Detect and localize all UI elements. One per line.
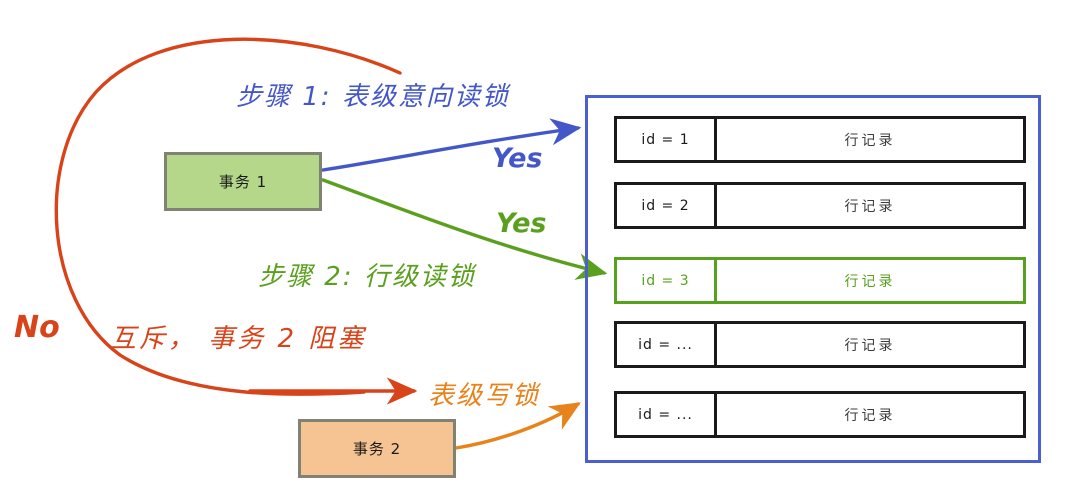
transaction-2-label: 事务 2 [353, 438, 401, 459]
row-id-cell: id = ... [617, 324, 717, 365]
row-record-cell: 行记录 [717, 324, 1023, 365]
transaction-2-box[interactable]: 事务 2 [298, 419, 456, 478]
table-row[interactable]: id = ... 行记录 [614, 391, 1026, 438]
annotation-conflict-blocked: 互斥， 事务 2 阻塞 [110, 318, 366, 355]
table-row-locked[interactable]: id = 3 行记录 [614, 257, 1026, 304]
row-record-cell: 行记录 [717, 185, 1023, 226]
transaction-1-box[interactable]: 事务 1 [164, 152, 322, 211]
row-id-cell: id = 2 [617, 185, 717, 226]
row-id-cell: id = 3 [617, 260, 717, 301]
annotation-step-2: 步骤 2: 行级读锁 [258, 256, 476, 293]
annotation-table-write-lock: 表级写锁 [428, 375, 540, 412]
table-row[interactable]: id = ... 行记录 [614, 321, 1026, 368]
table-row[interactable]: id = 2 行记录 [614, 182, 1026, 229]
row-id-cell: id = 1 [617, 119, 717, 160]
row-record-cell: 行记录 [717, 394, 1023, 435]
annotation-step-1: 步骤 1: 表级意向读锁 [236, 76, 510, 113]
annotation-no: No [14, 310, 60, 345]
row-record-cell: 行记录 [717, 119, 1023, 160]
table-row[interactable]: id = 1 行记录 [614, 116, 1026, 163]
row-record-cell: 行记录 [717, 260, 1023, 301]
annotation-yes-table-lock: Yes [492, 143, 542, 174]
diagram-canvas: id = 1 行记录 id = 2 行记录 id = 3 行记录 id = ..… [0, 0, 1080, 503]
annotation-yes-row-lock: Yes [496, 208, 546, 239]
row-id-cell: id = ... [617, 394, 717, 435]
transaction-1-label: 事务 1 [219, 171, 267, 192]
